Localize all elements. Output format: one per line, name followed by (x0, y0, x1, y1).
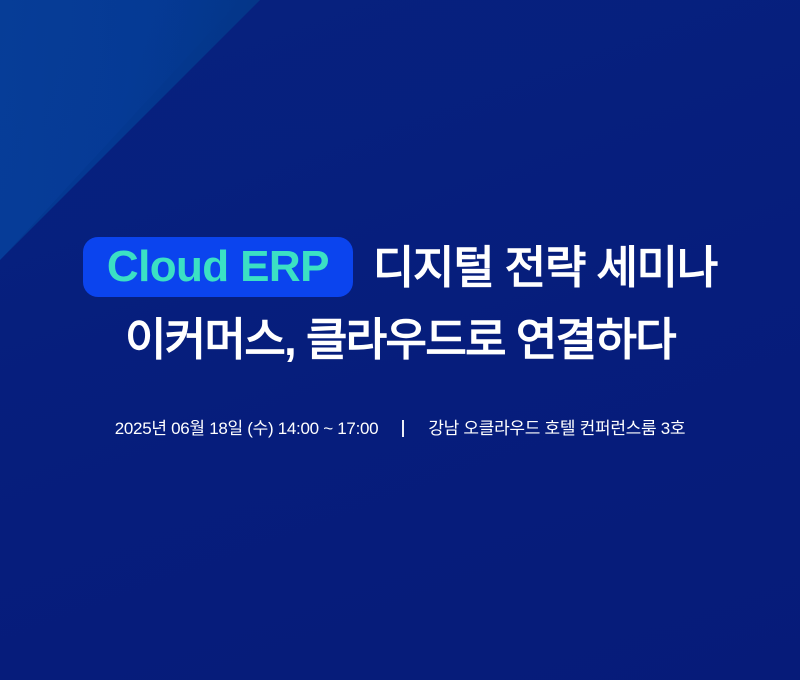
cloud-erp-badge: Cloud ERP (83, 237, 353, 297)
info-divider (402, 420, 404, 437)
headline-row-primary: Cloud ERP 디지털 전략 세미나 (0, 230, 800, 304)
title-line-2: 이커머스, 클라우드로 연결하다 (125, 317, 675, 362)
banner-content: Cloud ERP 디지털 전략 세미나 이커머스, 클라우드로 연결하다 20… (0, 0, 800, 680)
event-info-bar: 2025년 06월 18일 (수) 14:00 ~ 17:00 강남 오클라우드… (0, 420, 800, 437)
headline-row-secondary: 이커머스, 클라우드로 연결하다 (0, 306, 800, 372)
event-datetime: 2025년 06월 18일 (수) 14:00 ~ 17:00 (115, 420, 379, 437)
headline-block: Cloud ERP 디지털 전략 세미나 이커머스, 클라우드로 연결하다 (0, 230, 800, 372)
event-venue: 강남 오클라우드 호텔 컨퍼런스룸 3호 (428, 420, 685, 437)
seminar-banner: Cloud ERP 디지털 전략 세미나 이커머스, 클라우드로 연결하다 20… (0, 0, 800, 680)
title-line-1: 디지털 전략 세미나 (373, 245, 717, 290)
